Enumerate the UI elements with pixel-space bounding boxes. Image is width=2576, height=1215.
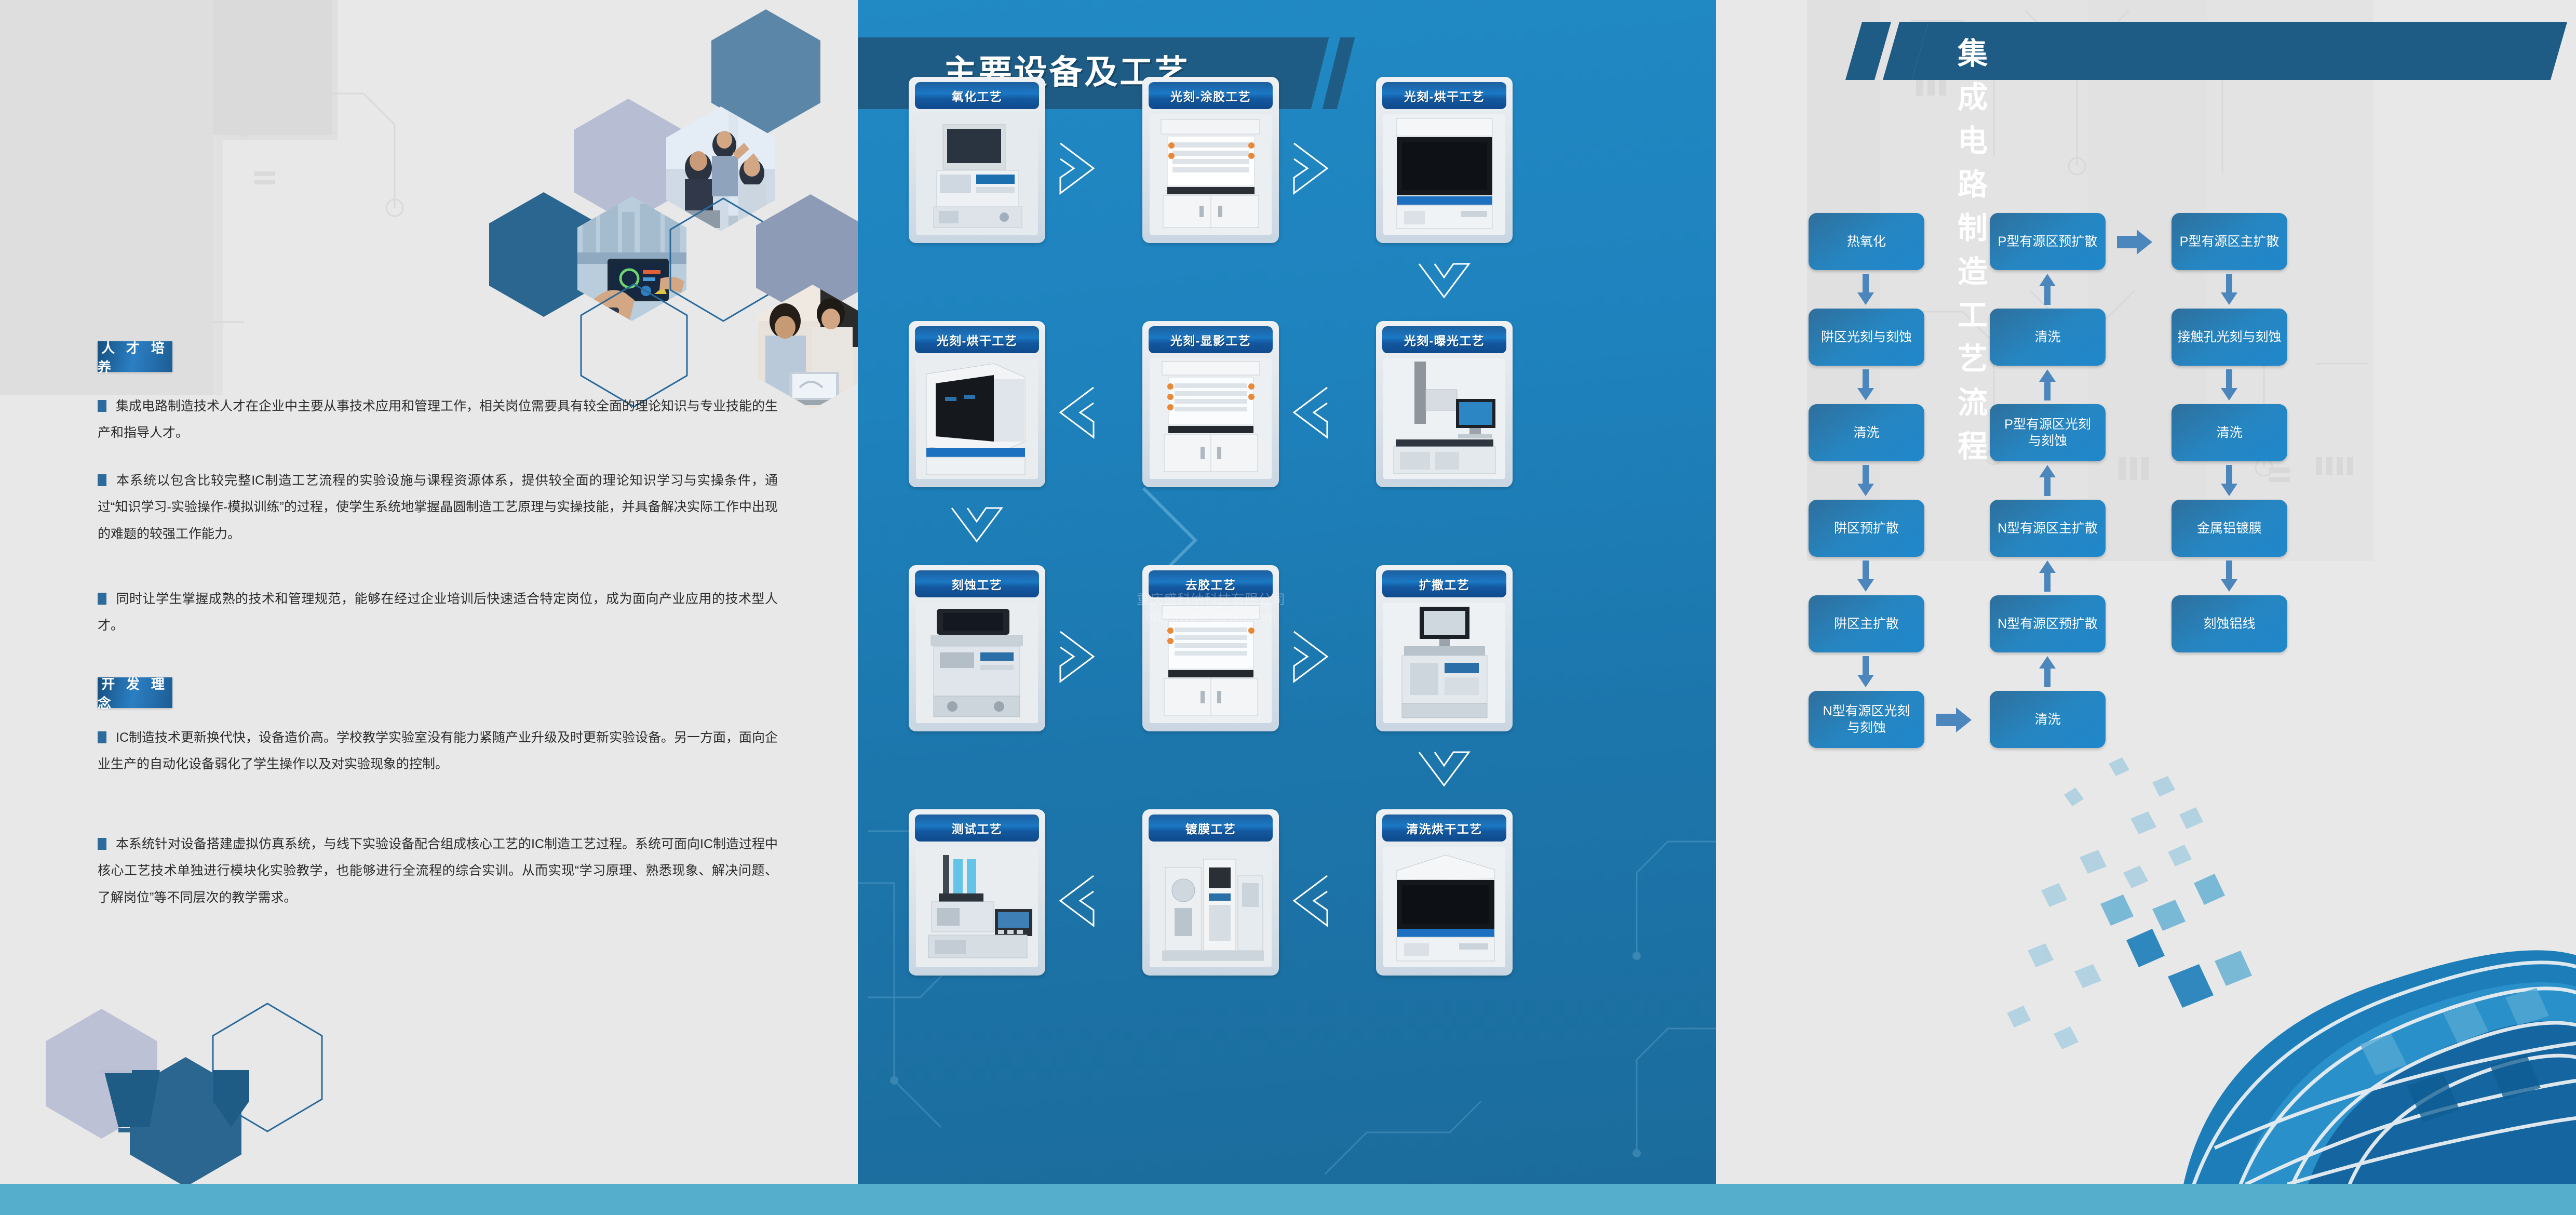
equipment-card[interactable]: 刻蚀工艺 [909, 565, 1045, 731]
arrow-down-icon [1856, 369, 1875, 402]
flow-box[interactable]: P型有源区主扩散 [2172, 213, 2287, 270]
flow-box[interactable]: P型有源区预扩散 [1990, 213, 2106, 270]
equipment-card[interactable]: 去胶工艺 [1142, 565, 1279, 731]
equipment-photo-oxidation [916, 114, 1038, 235]
flow-box[interactable]: P型有源区光刻 与刻蚀 [1990, 404, 2106, 461]
flow-box-label: 阱区主扩散 [1834, 616, 1899, 632]
chevron-right-icon [1285, 629, 1337, 685]
left-panel: 人 才 培 养 集成电路制造技术人才在企业中主要从事技术应用和管理工作，相关岗位… [0, 0, 858, 1184]
arrow-down-icon [2220, 369, 2238, 402]
equipment-photo-exposure [1383, 358, 1505, 479]
bullet-square [98, 838, 106, 850]
equipment-card-label: 光刻-曝光工艺 [1382, 326, 1506, 353]
flow-box[interactable]: 金属铝镀膜 [2172, 500, 2287, 557]
hexagon-photo-cluster [467, 0, 858, 364]
chevron-left-icon [1285, 384, 1337, 440]
equipment-card[interactable]: 光刻-烘干工艺 [909, 321, 1045, 487]
arrow-down-icon [2220, 274, 2238, 306]
equipment-card-label: 测试工艺 [915, 815, 1039, 842]
bullet-square [98, 474, 106, 486]
equipment-photo-clean-dry [1383, 847, 1505, 967]
middle-panel: 主要设备及工艺 氧化工艺 [858, 0, 1716, 1184]
flow-box-label: 阱区预扩散 [1834, 520, 1899, 537]
flow-box[interactable]: 热氧化 [1809, 213, 1924, 270]
ribbon-decor [93, 1070, 332, 1138]
flow-box-label: N型有源区主扩散 [1998, 520, 2098, 537]
chevron-right-icon [1051, 629, 1103, 685]
equipment-card-label: 光刻-涂胶工艺 [1149, 82, 1273, 109]
flow-box[interactable]: 清洗 [1990, 691, 2106, 748]
equipment-photo-etching [916, 603, 1038, 723]
equipment-card[interactable]: 清洗烘干工艺 [1376, 809, 1513, 976]
paragraph-talent-1: 集成电路制造技术人才在企业中主要从事技术应用和管理工作，相关岗位需要具有较全面的… [98, 393, 778, 447]
arrow-down-icon [2220, 465, 2238, 497]
flow-box-label: P型有源区预扩散 [1998, 233, 2098, 250]
arrow-up-icon [2038, 560, 2057, 593]
flow-box-label: N型有源区预扩散 [1998, 616, 2098, 632]
bullet-square [98, 593, 106, 605]
arrow-up-icon [2038, 656, 2057, 688]
equipment-card[interactable]: 光刻-涂胶工艺 [1142, 77, 1279, 243]
equipment-card[interactable]: 氧化工艺 [909, 77, 1045, 243]
bottom-accent-strip [0, 1184, 2576, 1215]
equipment-card-label: 刻蚀工艺 [915, 570, 1039, 597]
flow-box[interactable]: 阱区预扩散 [1809, 500, 1924, 557]
arrow-down-icon [1856, 465, 1875, 497]
hex-outline-2 [579, 283, 689, 408]
paragraph-talent-2: 本系统以包含比较完整IC制造工艺流程的实验设施与课程资源体系，提供较全面的理论知… [98, 468, 778, 548]
right-panel: 集成电路制造工艺流程 [1716, 0, 2576, 1184]
flow-box-label: 刻蚀铝线 [2203, 616, 2255, 632]
equipment-card[interactable]: 镀膜工艺 [1142, 809, 1279, 976]
equipment-card-label: 去胶工艺 [1149, 570, 1273, 597]
equipment-photo-develop [1150, 358, 1272, 479]
arrow-down-icon [2220, 560, 2238, 593]
chevron-left-icon [1285, 873, 1337, 929]
equipment-card-label: 光刻-显影工艺 [1149, 326, 1273, 353]
flow-box[interactable]: N型有源区主扩散 [1990, 500, 2106, 557]
flow-box-label: 接触孔光刻与刻蚀 [2177, 329, 2281, 345]
flow-box[interactable]: 刻蚀铝线 [2172, 595, 2287, 652]
flow-box-label: P型有源区光刻 与刻蚀 [2004, 416, 2091, 449]
equipment-photo-coating [1150, 114, 1272, 235]
poster-canvas: 人 才 培 养 集成电路制造技术人才在企业中主要从事技术应用和管理工作，相关岗位… [0, 0, 2576, 1215]
arrow-up-icon [2038, 274, 2057, 306]
flow-box-label: 清洗 [2216, 424, 2242, 441]
flow-box-label: 清洗 [2034, 329, 2060, 345]
flow-box[interactable]: 接触孔光刻与刻蚀 [2172, 309, 2287, 366]
chevron-down-icon [1416, 255, 1472, 306]
chevron-right-icon [1285, 140, 1337, 196]
paragraph-philosophy-2: 本系统针对设备搭建虚拟仿真系统，与线下实验设备配合组成核心工艺的IC制造工艺过程… [98, 831, 778, 911]
grey-accent-block-2 [213, 0, 332, 135]
arrow-up-icon [2038, 465, 2057, 497]
equipment-photo-diffusion [1383, 603, 1505, 723]
equipment-card-label: 清洗烘干工艺 [1382, 815, 1506, 842]
flow-box-label: 金属铝镀膜 [2197, 520, 2262, 537]
equipment-card-label: 光刻-烘干工艺 [915, 326, 1039, 353]
chevron-right-icon [1051, 140, 1103, 196]
flow-box[interactable]: 清洗 [1809, 404, 1924, 461]
equipment-card[interactable]: 光刻-显影工艺 [1142, 321, 1279, 487]
section-tag-philosophy: 开 发 理 念 [98, 677, 172, 708]
right-panel-title: 集成电路制造工艺流程 [1958, 29, 1989, 465]
flow-box[interactable]: 阱区主扩散 [1809, 595, 1924, 652]
chevron-left-icon [1051, 873, 1103, 929]
arrow-down-icon [1856, 656, 1875, 688]
flow-box[interactable]: 清洗 [2172, 404, 2287, 461]
equipment-card[interactable]: 光刻-曝光工艺 [1376, 321, 1513, 487]
flow-box-label: 清洗 [1853, 424, 1879, 441]
flow-box-label: 清洗 [2034, 711, 2060, 728]
middle-title-slash-2 [1323, 37, 1355, 109]
equipment-card-label: 镀膜工艺 [1149, 815, 1273, 842]
arrow-up-icon [2038, 369, 2057, 402]
flow-box[interactable]: N型有源区光刻 与刻蚀 [1809, 691, 1924, 748]
arrow-right-icon [2117, 229, 2153, 256]
arrow-down-icon [1856, 560, 1875, 593]
flow-box[interactable]: 清洗 [1990, 309, 2106, 366]
bullet-square [98, 400, 106, 412]
chevron-left-icon [1051, 384, 1103, 440]
equipment-photo-bake-2 [916, 358, 1038, 479]
circuit-pattern-right [1807, 0, 2373, 561]
section-tag-talent: 人 才 培 养 [98, 341, 172, 372]
flow-box[interactable]: 阱区光刻与刻蚀 [1809, 309, 1924, 366]
flow-box[interactable]: N型有源区预扩散 [1990, 595, 2106, 652]
arrow-down-icon [1856, 274, 1875, 306]
globe-mesh-decor [1997, 753, 2576, 1184]
equipment-photo-bake-1 [1383, 114, 1505, 235]
equipment-card[interactable]: 光刻-烘干工艺 [1376, 77, 1513, 243]
paragraph-philosophy-1: IC制造技术更新换代快，设备造价高。学校教学实验室没有能力紧随产业升级及时更新实… [98, 725, 778, 778]
grey-accent-block [0, 0, 213, 395]
equipment-card[interactable]: 测试工艺 [909, 809, 1045, 976]
flow-box-label: P型有源区主扩散 [2180, 233, 2280, 250]
chevron-down-icon [949, 499, 1005, 551]
equipment-card-label: 氧化工艺 [915, 82, 1039, 109]
right-title-band [1912, 22, 2567, 80]
flow-box-label: N型有源区光刻 与刻蚀 [1823, 703, 1910, 736]
paragraph-talent-3: 同时让学生掌握成熟的技术和管理规范，能够在经过企业培训后快速适合特定岗位，成为面… [98, 586, 778, 639]
bullet-square [98, 731, 106, 743]
equipment-photo-testing [916, 847, 1038, 967]
equipment-photo-coating-film [1150, 847, 1272, 967]
equipment-card-label: 光刻-烘干工艺 [1382, 82, 1506, 109]
equipment-photo-strip [1150, 603, 1272, 723]
equipment-card-label: 扩撒工艺 [1382, 570, 1506, 597]
arrow-right-icon [1936, 706, 1973, 733]
flow-box-label: 热氧化 [1847, 233, 1886, 250]
chevron-down-icon [1416, 743, 1472, 795]
flow-box-label: 阱区光刻与刻蚀 [1821, 329, 1912, 345]
equipment-card[interactable]: 扩撒工艺 [1376, 565, 1513, 731]
